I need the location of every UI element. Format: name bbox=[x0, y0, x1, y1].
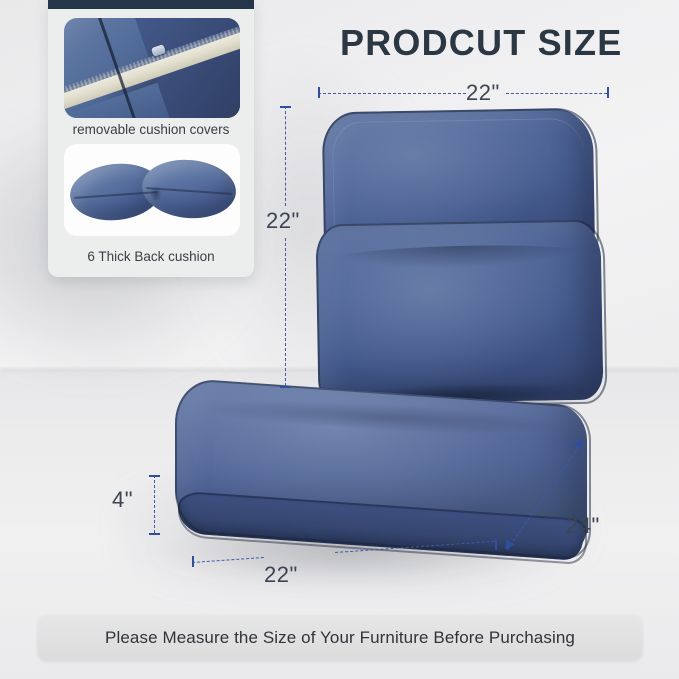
measure-notice-banner: Please Measure the Size of Your Furnitur… bbox=[38, 616, 642, 660]
seat-width-tick-right bbox=[495, 539, 497, 550]
feature-caption-1: removable cushion covers bbox=[48, 122, 254, 137]
seat-width-tick-left bbox=[192, 556, 194, 567]
back-width-label: 22" bbox=[466, 80, 500, 106]
zipper-closeup-thumbnail bbox=[64, 18, 240, 118]
seat-cushion-piping bbox=[175, 377, 591, 560]
feature-inset-panel: removable cushion covers 6 Thick Back cu… bbox=[48, 0, 254, 277]
back-width-tick-right bbox=[607, 87, 609, 98]
feature-caption-2: 6 Thick Back cushion bbox=[48, 249, 254, 264]
back-height-line-upper bbox=[285, 106, 286, 206]
inset-panel-topbar bbox=[48, 0, 254, 9]
product-size-infographic: PRODCUT SIZE 22" 22" 4 bbox=[0, 0, 679, 679]
seat-thickness-tick-bottom bbox=[149, 533, 160, 535]
back-height-tick-top bbox=[280, 106, 291, 108]
seat-width-label: 22" bbox=[264, 562, 298, 588]
back-width-line-left bbox=[318, 93, 466, 94]
back-height-line-lower bbox=[285, 238, 286, 386]
seat-depth-label: 24" bbox=[566, 513, 600, 539]
seat-thickness-line bbox=[154, 475, 155, 533]
back-width-tick-left bbox=[318, 87, 320, 98]
seat-thickness-tick-top bbox=[149, 475, 160, 477]
back-cushion-thumbnail bbox=[64, 144, 240, 236]
seat-thickness-label: 4" bbox=[112, 487, 133, 513]
back-width-line-right bbox=[506, 93, 607, 94]
back-height-label: 22" bbox=[266, 208, 300, 234]
measure-notice-text: Please Measure the Size of Your Furnitur… bbox=[105, 628, 575, 648]
back-height-tick-bottom bbox=[280, 386, 291, 388]
pillow-center-pinch bbox=[150, 186, 162, 202]
